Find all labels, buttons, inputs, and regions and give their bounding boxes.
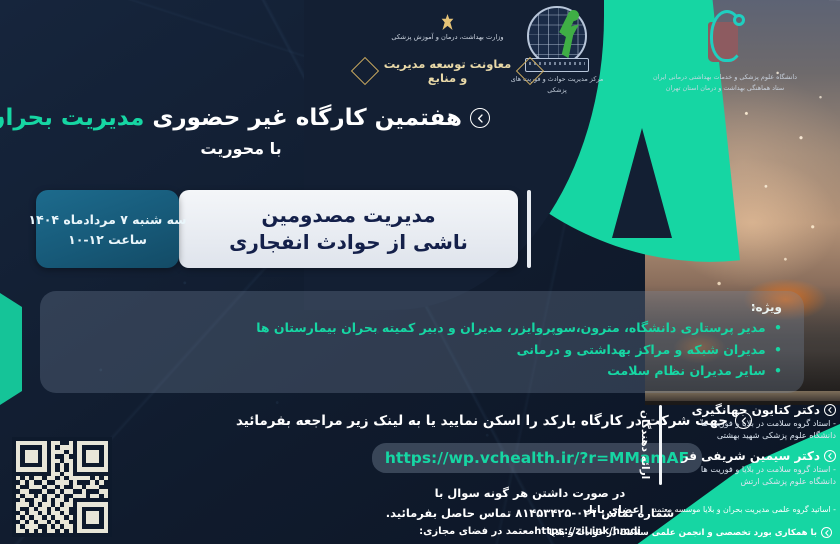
headline-prefix: هفتمین کارگاه غیر حضوری <box>152 104 462 133</box>
headline-accent: مدیریت بحران و بلایا <box>0 104 144 133</box>
presenter-spacer <box>671 442 836 449</box>
contact-social-label: معتمد در فضای مجازی: <box>419 526 534 537</box>
presenter-entry: دکتر کتایون جهانگیری - استاد گروه سلامت … <box>671 403 836 442</box>
presenter-name: دکتر سیمین شریفی فر <box>671 449 836 463</box>
audience-title: ویژه: <box>62 300 782 314</box>
iran-emblem-icon <box>441 14 455 30</box>
topic-end-tick <box>527 190 531 268</box>
headline-subtitle: با محوریت <box>20 139 490 158</box>
iums-emblem-icon <box>694 6 756 68</box>
logo-ministry-line1: وزارت بهداشت، درمان و آموزش پزشکی <box>355 33 540 41</box>
audience-item: • سایر مدیران نظام سلامت <box>62 360 782 382</box>
presenter-name: دکتر کتایون جهانگیری <box>671 403 836 417</box>
presenters-label: ارائه دهندگان <box>638 403 652 487</box>
audience-item-label: مدیران شبکه و مراکز بهداشتی و درمانی <box>517 342 766 357</box>
logo-row: دانشگاه علوم پزشکی و خدمات بهداشتی درمان… <box>0 4 840 102</box>
presenter-name-label: دکتر کتایون جهانگیری <box>692 403 820 417</box>
logo-ministry-plaque: معاونت توسعه مدیریت و منابع <box>355 52 540 90</box>
audience-item-label: سایر مدیران نظام سلامت <box>607 363 765 378</box>
presenters-list: دکتر کتایون جهانگیری - استاد گروه سلامت … <box>669 403 836 487</box>
event-poster: دانشگاه علوم پزشکی و خدمات بهداشتی درمان… <box>0 0 840 544</box>
panel-members-row: - اساتید گروه علمی مدیریت بحران و بلایا … <box>612 501 840 518</box>
presenter-affiliation-line-1: - استاد گروه سلامت در بلایا و فوریت ها <box>671 463 836 475</box>
audience-item: • مدیران شبکه و مراکز بهداشتی و درمانی <box>62 339 782 361</box>
logo-ministry: وزارت بهداشت، درمان و آموزش پزشکی معاونت… <box>355 12 540 90</box>
headline-block: هفتمین کارگاه غیر حضوری مدیریت بحران و ب… <box>20 104 490 158</box>
presenters-divider <box>659 405 662 485</box>
panel-members-text: - اساتید گروه علمی مدیریت بحران و بلایا … <box>653 505 836 514</box>
registration-qr-code[interactable] <box>12 437 112 537</box>
presenters-panel: دکتر کتایون جهانگیری - استاد گروه سلامت … <box>632 398 840 487</box>
presenter-affiliation-line-1: - استاد گروه سلامت در بلایا و فوریت ها <box>671 417 836 429</box>
panel-members-label: اعضای پانل <box>584 504 644 516</box>
chevron-left-icon <box>470 108 490 128</box>
date-topic-row: مدیریت مصدومین ناشی از حوادث انفجاری سه … <box>36 190 540 268</box>
date-line-1: سه شنبه ۷ مردادماه ۱۴۰۴ <box>29 212 187 227</box>
footer-note-text: با همکاری بورد تخصصی و انجمن علمی سلامت … <box>549 528 817 538</box>
topic-banner: مدیریت مصدومین ناشی از حوادث انفجاری <box>179 190 518 268</box>
chevron-left-icon <box>821 527 832 538</box>
chevron-left-icon <box>824 450 836 462</box>
audience-panel: ویژه: • مدیر پرستاری دانشگاه، مترون،سوپر… <box>40 291 804 393</box>
date-badge: سه شنبه ۷ مردادماه ۱۴۰۴ ساعت ۱۲-۱۰ <box>36 190 179 268</box>
presenter-affiliation-line-2: دانشگاه علوم پزشکی شهید بهشتی <box>671 429 836 441</box>
bullet-icon: • <box>774 342 782 357</box>
footer-note: با همکاری بورد تخصصی و انجمن علمی سلامت … <box>549 527 832 538</box>
bullet-icon: • <box>774 363 782 378</box>
presenter-affiliation-line-2: دانشگاه علوم پزشکی ارتش <box>671 475 836 487</box>
bullet-icon: • <box>774 320 782 335</box>
presenter-entry: دکتر سیمین شریفی فر - استاد گروه سلامت د… <box>671 449 836 488</box>
page-title: هفتمین کارگاه غیر حضوری مدیریت بحران و ب… <box>20 104 490 133</box>
topic-line-1: مدیریت مصدومین <box>261 202 435 229</box>
logo-iums-caption: دانشگاه علوم پزشکی و خدمات بهداشتی درمان… <box>650 72 800 94</box>
chevron-left-icon <box>824 404 836 416</box>
audience-item-label: مدیر پرستاری دانشگاه، مترون،سوپروایزر، م… <box>256 320 765 335</box>
logo-iums: دانشگاه علوم پزشکی و خدمات بهداشتی درمان… <box>650 4 800 94</box>
topic-line-2: ناشی از حوادث انفجاری <box>229 229 468 256</box>
date-line-2: ساعت ۱۲-۱۰ <box>68 232 147 247</box>
qr-matrix <box>16 441 108 533</box>
audience-item: • مدیر پرستاری دانشگاه، مترون،سوپروایزر،… <box>62 317 782 339</box>
presenter-name-label: دکتر سیمین شریفی فر <box>682 449 820 463</box>
